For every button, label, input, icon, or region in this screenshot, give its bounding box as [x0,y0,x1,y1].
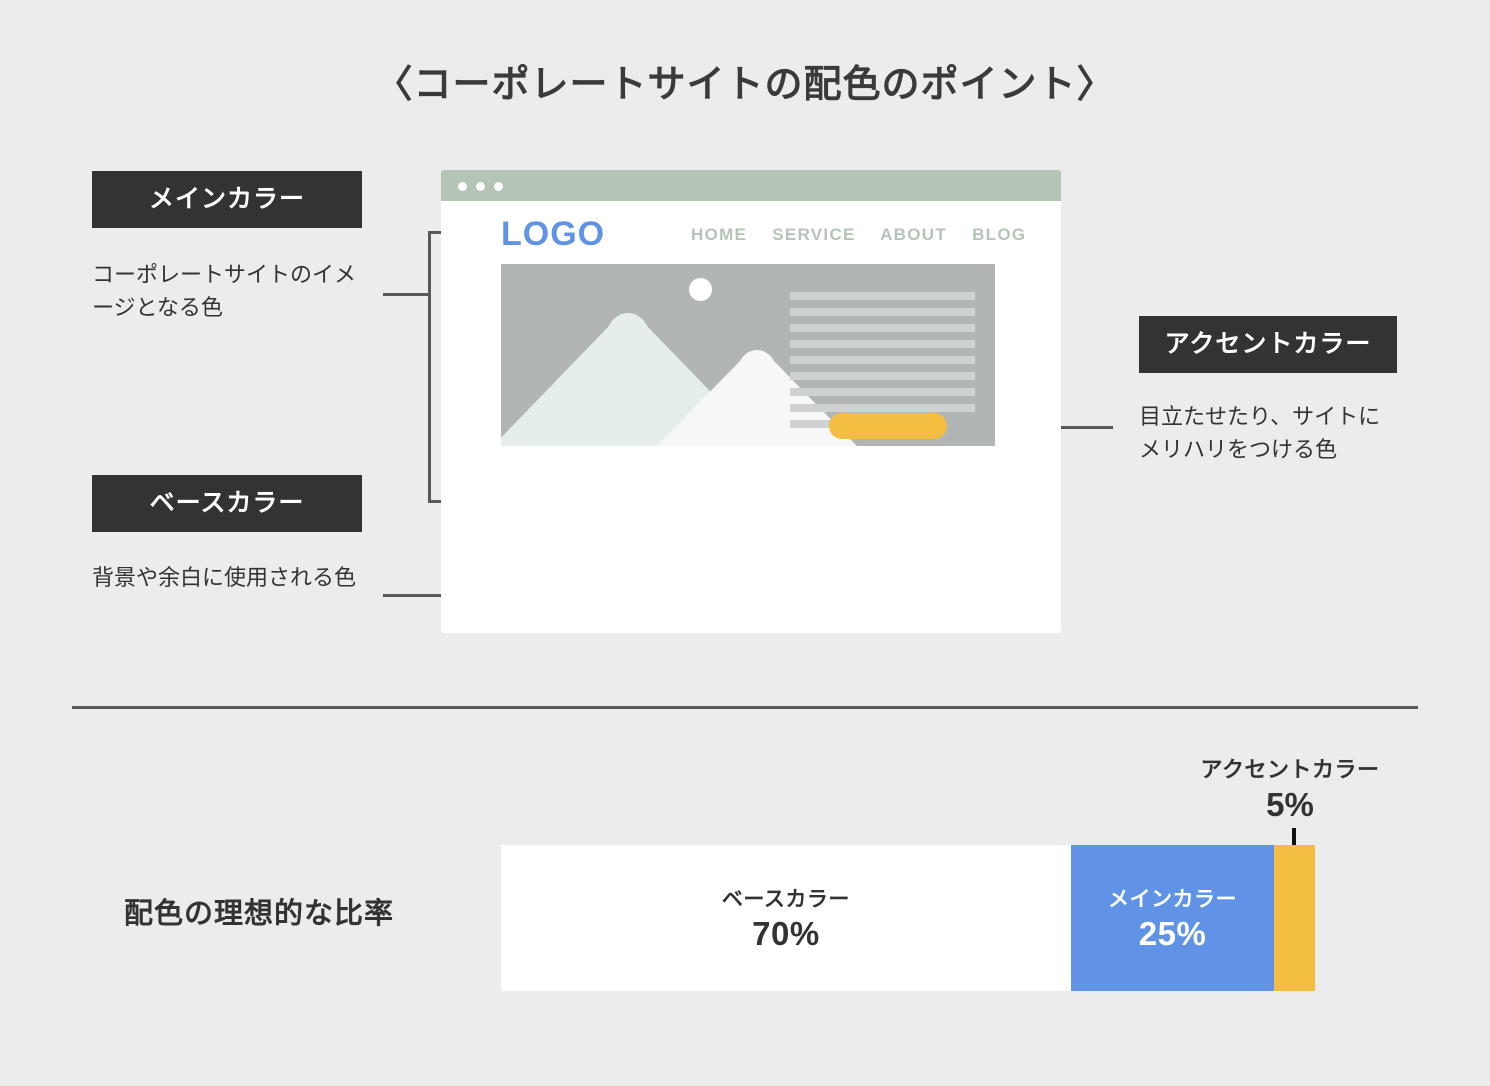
ratio-segment-main: メインカラー 25% [1071,845,1275,991]
nav-item-blog[interactable]: BLOG [972,225,1026,244]
hero-banner [501,264,995,446]
leader-line-main-stub [383,293,431,296]
section-divider [72,706,1418,709]
description-main-color: コーポレートサイトのイメージとなる色 [92,258,360,324]
ratio-segment-accent [1274,845,1315,991]
ratio-stacked-bar: ベースカラー 70% メインカラー 25% [501,845,1315,991]
window-dot-icon [494,182,503,191]
window-dot-icon [458,182,467,191]
nav-item-service[interactable]: SERVICE [772,225,855,244]
page-title: 〈コーポレートサイトの配色のポイント〉 [0,53,1490,108]
text-line [790,324,975,332]
nav-item-home[interactable]: HOME [691,225,747,244]
text-line [790,388,975,396]
description-base-color: 背景や余白に使用される色 [92,561,360,594]
ratio-segment-value: 25% [1139,915,1207,953]
browser-mockup: LOGO HOME SERVICE ABOUT BLOG [441,170,1061,633]
accent-ratio-value: 5% [1150,786,1430,824]
hero-cta-button[interactable] [829,413,947,439]
description-accent-color: 目立たせたり、サイトにメリハリをつける色 [1139,400,1401,466]
text-line [790,404,975,412]
site-logo[interactable]: LOGO [501,215,605,254]
accent-ratio-callout: アクセントカラー 5% [1150,752,1430,824]
nav-item-about[interactable]: ABOUT [880,225,947,244]
hero-text-placeholder [790,292,975,428]
text-line [790,340,975,348]
badge-base-color: ベースカラー [92,475,362,532]
ratio-segment-name: メインカラー [1108,883,1237,913]
leader-line-main-spine [428,231,431,503]
ratio-segment-base: ベースカラー 70% [501,845,1071,991]
badge-main-color: メインカラー [92,171,362,228]
badge-accent-color: アクセントカラー [1139,316,1397,373]
ratio-segment-value: 70% [752,915,820,953]
text-line [790,356,975,364]
site-nav: HOME SERVICE ABOUT BLOG [691,225,1026,245]
text-line [790,292,975,300]
text-line [790,372,975,380]
browser-title-bar [441,170,1061,201]
text-line [790,308,975,316]
ratio-segment-name: ベースカラー [722,883,850,913]
ratio-section-label: 配色の理想的な比率 [124,890,394,932]
window-dot-icon [476,182,485,191]
accent-ratio-name: アクセントカラー [1150,752,1430,784]
sun-icon [689,278,712,301]
